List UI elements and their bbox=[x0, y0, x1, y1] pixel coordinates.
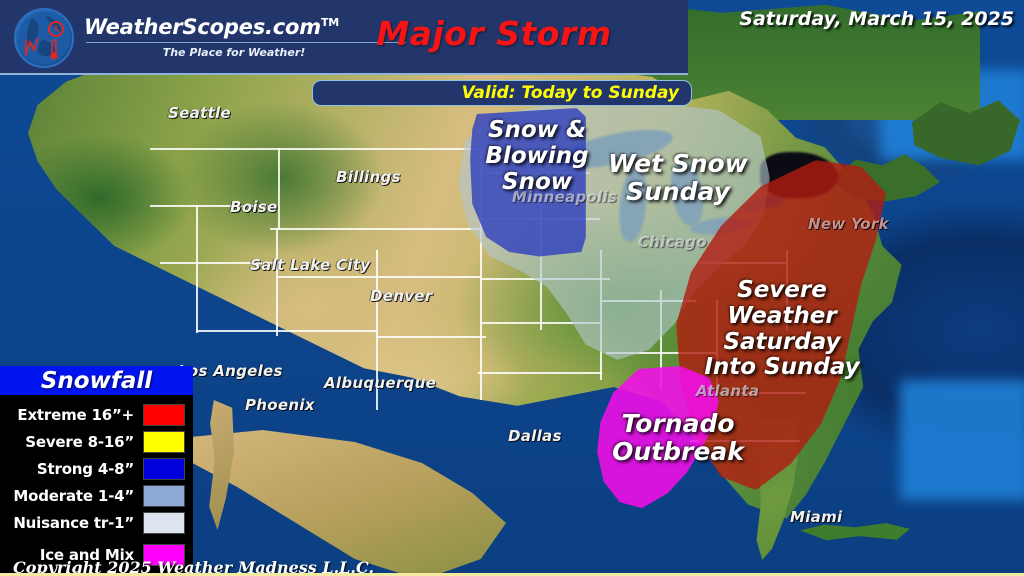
valid-period-panel: Valid: Today to Sunday bbox=[312, 80, 692, 106]
valid-period-text: Valid: Today to Sunday bbox=[462, 83, 679, 103]
callout-line: Into Sunday bbox=[672, 355, 892, 381]
callout-line: Wet Snow bbox=[578, 150, 778, 178]
state-border bbox=[196, 205, 198, 333]
city-label: Boise bbox=[230, 198, 277, 216]
state-border bbox=[270, 228, 480, 230]
callout-line: Sunday bbox=[578, 178, 778, 206]
city-label: Billings bbox=[336, 168, 401, 186]
city-label: Los Angeles bbox=[178, 362, 283, 380]
city-label: Albuquerque bbox=[324, 374, 436, 392]
legend-row: Moderate 1-4” bbox=[0, 484, 193, 508]
legend-row: Extreme 16”+ bbox=[0, 403, 193, 427]
city-label: Salt Lake City bbox=[250, 256, 370, 274]
legend-color-swatch bbox=[143, 404, 185, 426]
city-label: Denver bbox=[370, 287, 432, 305]
city-label: Phoenix bbox=[245, 396, 315, 414]
callout-line: Severe bbox=[672, 278, 892, 304]
legend-title-bar: Snowfall bbox=[0, 366, 193, 395]
city-label: Chicago bbox=[638, 233, 707, 251]
weather-map-screenshot: SeattleBillingsBoiseSalt Lake CityDenver… bbox=[0, 0, 1024, 576]
callout-tornado-outbreak: Tornado Outbreak bbox=[602, 410, 754, 466]
legend-row-label: Moderate 1-4” bbox=[13, 487, 134, 505]
legend-row: Nuisance tr-1” bbox=[0, 511, 193, 535]
snowfall-legend: Snowfall Extreme 16”+Severe 8-16”Strong … bbox=[0, 366, 193, 576]
legend-row-label: Severe 8-16” bbox=[25, 433, 134, 451]
state-border bbox=[276, 228, 278, 336]
state-border bbox=[478, 372, 602, 374]
callout-line: Outbreak bbox=[602, 438, 754, 466]
callout-severe-weather: Severe Weather Saturday Into Sunday bbox=[672, 278, 892, 381]
city-label: Dallas bbox=[508, 427, 562, 445]
callout-line: Tornado bbox=[602, 410, 754, 438]
state-border bbox=[278, 148, 280, 230]
legend-row: Severe 8-16” bbox=[0, 430, 193, 454]
callout-line: Weather Saturday bbox=[672, 304, 892, 356]
callout-line: Snow & bbox=[478, 118, 596, 144]
state-border bbox=[276, 276, 480, 278]
legend-row-label: Strong 4-8” bbox=[37, 460, 134, 478]
city-label: Miami bbox=[790, 508, 842, 526]
legend-row: Strong 4-8” bbox=[0, 457, 193, 481]
state-border bbox=[150, 148, 480, 150]
legend-row-label: Nuisance tr-1” bbox=[13, 514, 134, 532]
page-title: Major Storm bbox=[0, 14, 688, 53]
state-border bbox=[376, 336, 486, 338]
city-label: Atlanta bbox=[696, 382, 759, 400]
callout-wet-snow-sunday: Wet Snow Sunday bbox=[578, 150, 778, 206]
legend-color-swatch bbox=[143, 458, 185, 480]
legend-row-label: Extreme 16”+ bbox=[17, 406, 134, 424]
legend-title: Snowfall bbox=[41, 368, 152, 394]
legend-rows: Extreme 16”+Severe 8-16”Strong 4-8”Moder… bbox=[0, 395, 193, 576]
continental-shelf bbox=[900, 380, 1024, 500]
legend-color-swatch bbox=[143, 485, 185, 507]
city-label: Seattle bbox=[168, 104, 231, 122]
forecast-date: Saturday, March 15, 2025 bbox=[739, 8, 1014, 30]
legend-color-swatch bbox=[143, 512, 185, 534]
state-border bbox=[196, 330, 376, 332]
city-label: New York bbox=[808, 215, 889, 233]
legend-color-swatch bbox=[143, 431, 185, 453]
